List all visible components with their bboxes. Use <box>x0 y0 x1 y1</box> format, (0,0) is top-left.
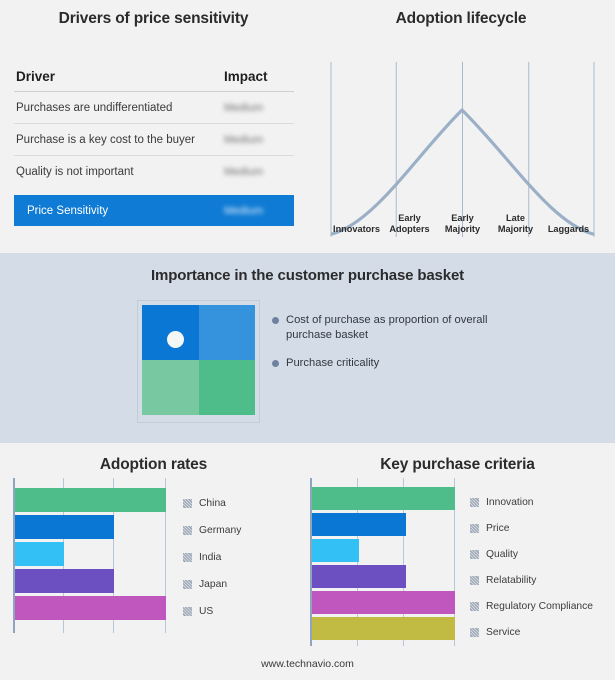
bar-quality[interactable] <box>312 539 359 562</box>
legend-item-service[interactable]: Service <box>470 619 615 645</box>
bar-row[interactable] <box>312 591 456 614</box>
lifecycle-stage-early-majority: Early Majority <box>436 207 489 237</box>
lifecycle-stage-early-adopters: Early Adopters <box>383 207 436 237</box>
legend-item-regulatory-compliance[interactable]: Regulatory Compliance <box>470 593 615 619</box>
quadrant-bottom-left[interactable] <box>142 360 199 415</box>
bar-price[interactable] <box>312 513 407 536</box>
key-purchase-criteria-plot-area <box>310 478 455 646</box>
legend-label: Relatability <box>486 575 536 586</box>
bar-service[interactable] <box>312 617 456 640</box>
bar-us[interactable] <box>15 596 167 620</box>
bullet-dot-icon <box>272 360 279 367</box>
bar-row[interactable] <box>15 596 167 620</box>
legend-swatch-icon <box>183 580 192 589</box>
stage-line-2: Majority <box>436 224 489 235</box>
legend-item-quality[interactable]: Quality <box>470 541 615 567</box>
key-purchase-criteria-chart: InnovationPriceQualityRelatabilityRegula… <box>310 478 615 658</box>
quadrant-top-right[interactable] <box>199 305 256 360</box>
column-header-driver: Driver <box>14 69 224 84</box>
impact-value: Medium <box>224 205 294 217</box>
bar-rows <box>15 478 167 633</box>
legend-label: Quality <box>486 549 518 560</box>
plot-top-padding <box>312 478 456 487</box>
key-purchase-criteria-title: Key purchase criteria <box>300 456 615 474</box>
drivers-panel-title: Drivers of price sensitivity <box>0 10 307 28</box>
basket-legend: Cost of purchase as proportion of overal… <box>272 313 572 385</box>
table-header-row: Driver Impact <box>14 62 294 92</box>
bar-relatability[interactable] <box>312 565 407 588</box>
lifecycle-stage-innovators: Innovators <box>330 207 383 237</box>
bar-china[interactable] <box>15 488 167 512</box>
drivers-table: Driver Impact Purchases are undifferenti… <box>14 62 294 226</box>
driver-label: Quality is not important <box>14 166 224 178</box>
legend-swatch-icon <box>183 526 192 535</box>
bar-row[interactable] <box>15 488 167 512</box>
bar-row[interactable] <box>312 539 456 562</box>
plot-top-padding <box>15 478 167 488</box>
legend-label: Price <box>486 523 509 534</box>
adoption-rates-legend: ChinaGermanyIndiaJapanUS <box>183 478 298 633</box>
bar-rows <box>312 478 456 646</box>
stage-line-2: Adopters <box>383 224 436 235</box>
bar-regulatory-compliance[interactable] <box>312 591 456 614</box>
legend-swatch-icon <box>470 498 479 507</box>
bar-row[interactable] <box>15 515 167 539</box>
lifecycle-stage-late-majority: Late Majority <box>489 207 542 237</box>
legend-item-china[interactable]: China <box>183 490 298 517</box>
legend-item-price[interactable]: Price <box>470 515 615 541</box>
legend-label: Service <box>486 627 520 638</box>
adoption-lifecycle-panel: Adoption lifecycle Innovators Early Adop… <box>307 0 615 253</box>
legend-label: Japan <box>199 579 227 590</box>
drivers-of-price-sensitivity-panel: Drivers of price sensitivity Driver Impa… <box>0 0 307 253</box>
stage-line-2: Innovators <box>330 224 383 235</box>
driver-label: Purchase is a key cost to the buyer <box>14 134 224 146</box>
legend-swatch-icon <box>470 602 479 611</box>
legend-label: Regulatory Compliance <box>486 601 593 612</box>
table-row-highlighted-price-sensitivity[interactable]: Price Sensitivity Medium <box>14 195 294 226</box>
table-row[interactable]: Purchases are undifferentiated Medium <box>14 92 294 124</box>
bar-row[interactable] <box>312 513 456 536</box>
legend-label: India <box>199 552 221 563</box>
basket-panel-title: Importance in the customer purchase bask… <box>0 267 615 284</box>
legend-label: Purchase criticality <box>286 356 379 371</box>
stage-line-1: Late <box>489 213 542 224</box>
legend-swatch-icon <box>470 524 479 533</box>
legend-item-cost-of-purchase: Cost of purchase as proportion of overal… <box>272 313 572 342</box>
legend-label: Innovation <box>486 497 534 508</box>
legend-swatch-icon <box>470 576 479 585</box>
legend-label: Cost of purchase as proportion of overal… <box>286 313 511 342</box>
legend-swatch-icon <box>183 553 192 562</box>
legend-swatch-icon <box>183 499 192 508</box>
legend-item-japan[interactable]: Japan <box>183 571 298 598</box>
bullet-dot-icon <box>272 317 279 324</box>
importance-in-purchase-basket-panel: Importance in the customer purchase bask… <box>0 253 615 443</box>
bar-india[interactable] <box>15 542 65 566</box>
quadrant-bottom-right[interactable] <box>199 360 256 415</box>
legend-item-india[interactable]: India <box>183 544 298 571</box>
key-purchase-criteria-legend: InnovationPriceQualityRelatabilityRegula… <box>470 478 615 646</box>
bar-row[interactable] <box>312 487 456 510</box>
table-row[interactable]: Purchase is a key cost to the buyer Medi… <box>14 124 294 156</box>
key-purchase-criteria-panel: Key purchase criteria InnovationPriceQua… <box>300 443 615 680</box>
adoption-rates-plot-area <box>13 478 166 633</box>
bar-row[interactable] <box>15 569 167 593</box>
lifecycle-stage-laggards: Laggards <box>542 207 595 237</box>
impact-value: Medium <box>224 166 294 178</box>
legend-swatch-icon <box>470 550 479 559</box>
position-marker-dot <box>167 331 184 348</box>
legend-item-relatability[interactable]: Relatability <box>470 567 615 593</box>
bar-japan[interactable] <box>15 569 115 593</box>
lifecycle-stage-labels: Innovators Early Adopters Early Majority… <box>330 207 595 237</box>
legend-label: Germany <box>199 525 241 536</box>
stage-line-1: Early <box>383 213 436 224</box>
bar-germany[interactable] <box>15 515 115 539</box>
impact-value: Medium <box>224 102 294 114</box>
lifecycle-panel-title: Adoption lifecycle <box>307 10 615 28</box>
driver-label: Purchases are undifferentiated <box>14 102 224 114</box>
legend-item-purchase-criticality: Purchase criticality <box>272 356 572 371</box>
quadrant-matrix[interactable] <box>137 300 260 423</box>
bar-row[interactable] <box>312 617 456 640</box>
legend-item-us[interactable]: US <box>183 598 298 625</box>
impact-value: Medium <box>224 134 294 146</box>
adoption-rates-chart: ChinaGermanyIndiaJapanUS <box>13 478 298 648</box>
bar-row[interactable] <box>15 542 167 566</box>
adoption-rates-panel: Adoption rates ChinaGermanyIndiaJapanUS <box>0 443 307 680</box>
legend-swatch-icon <box>470 628 479 637</box>
stage-line-2: Majority <box>489 224 542 235</box>
legend-label: US <box>199 606 213 617</box>
footer-url: www.technavio.com <box>0 658 615 670</box>
quadrant-grid <box>142 305 255 415</box>
stage-line-1: Early <box>436 213 489 224</box>
table-row[interactable]: Quality is not important Medium <box>14 156 294 188</box>
bar-innovation[interactable] <box>312 487 456 510</box>
adoption-rates-title: Adoption rates <box>0 456 307 474</box>
legend-label: China <box>199 498 226 509</box>
column-header-impact: Impact <box>224 69 294 84</box>
legend-swatch-icon <box>183 607 192 616</box>
stage-line-2: Laggards <box>542 224 595 235</box>
bar-row[interactable] <box>312 565 456 588</box>
legend-item-innovation[interactable]: Innovation <box>470 489 615 515</box>
driver-label: Price Sensitivity <box>27 205 224 217</box>
legend-item-germany[interactable]: Germany <box>183 517 298 544</box>
